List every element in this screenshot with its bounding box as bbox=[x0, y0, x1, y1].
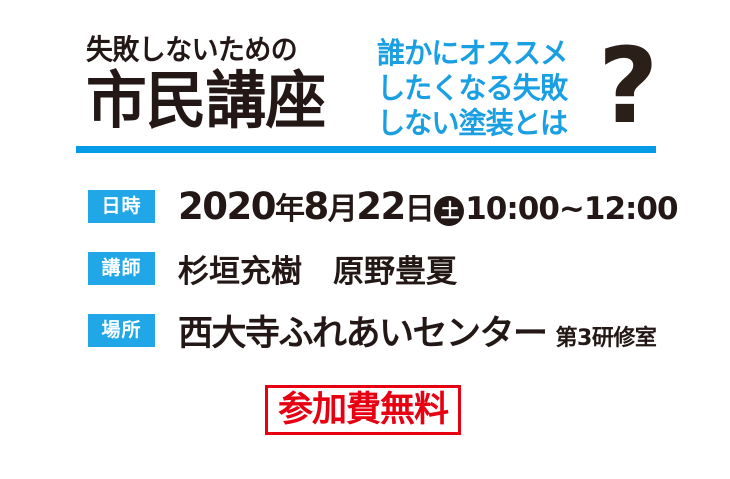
venue-room: 第3研修室 bbox=[556, 320, 657, 352]
date-year: 2020 bbox=[178, 185, 275, 228]
info-row-lecturer: 講師 杉垣充樹 原野豊夏 bbox=[0, 244, 730, 292]
weekday-badge: 土 bbox=[434, 196, 464, 226]
info-row-date: 日時 2020年8月22日土10:00~12:00 bbox=[0, 182, 730, 230]
header-divider bbox=[76, 146, 656, 153]
tagline-line-3: しない塗装とは bbox=[377, 106, 595, 141]
venue-name: 西大寺ふれあいセンター bbox=[178, 305, 547, 356]
info-rows: 日時 2020年8月22日土10:00~12:00 講師 杉垣充樹 原野豊夏 場… bbox=[0, 182, 730, 368]
question-mark-icon: ? bbox=[598, 34, 658, 138]
date-month-unit: 月 bbox=[328, 184, 357, 228]
tagline-line-2: したくなる失敗 bbox=[377, 71, 595, 106]
lecturer-value: 杉垣充樹 原野豊夏 bbox=[178, 246, 457, 291]
date-value: 2020年8月22日土10:00~12:00 bbox=[178, 184, 678, 228]
tagline-line-1: 誰かにオススメ bbox=[377, 36, 595, 71]
badge-date: 日時 bbox=[88, 190, 155, 223]
date-day: 22 bbox=[356, 185, 405, 228]
poster-header: 失敗しないための 市民講座 誰かにオススメ したくなる失敗 しない塗装とは ? bbox=[0, 0, 730, 160]
date-time: 10:00~12:00 bbox=[465, 191, 677, 227]
date-day-unit: 日 bbox=[405, 184, 434, 228]
tagline-group: 誰かにオススメ したくなる失敗 しない塗装とは bbox=[377, 36, 602, 141]
date-month: 8 bbox=[303, 185, 327, 228]
page-title: 市民講座 bbox=[86, 68, 370, 134]
date-year-unit: 年 bbox=[275, 184, 304, 228]
badge-lecturer: 講師 bbox=[88, 252, 155, 285]
info-row-venue: 場所 西大寺ふれあいセンター第3研修室 bbox=[0, 306, 730, 354]
venue-value: 西大寺ふれあいセンター第3研修室 bbox=[178, 305, 656, 356]
lecturer-names: 杉垣充樹 原野豊夏 bbox=[178, 246, 457, 291]
kicker-text: 失敗しないための bbox=[86, 34, 364, 66]
free-admission-banner: 参加費無料 bbox=[265, 385, 461, 435]
free-admission-label: 参加費無料 bbox=[278, 390, 448, 430]
badge-venue: 場所 bbox=[88, 314, 155, 347]
title-group: 失敗しないための 市民講座 bbox=[86, 34, 376, 134]
event-poster: 失敗しないための 市民講座 誰かにオススメ したくなる失敗 しない塗装とは ? … bbox=[0, 0, 730, 479]
